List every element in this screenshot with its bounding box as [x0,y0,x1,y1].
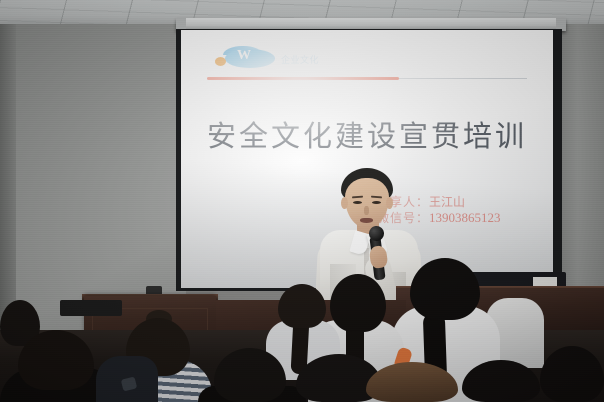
audience-member-e-head [330,274,386,332]
divider-rest-segment [399,78,527,79]
logo-letter: W [237,48,250,64]
audience-member-f-head [410,258,480,320]
audience-member-d-head [278,284,326,328]
presenter-eye-left [353,201,362,204]
slide-divider [207,77,527,81]
presenter-ear-right [386,197,393,209]
presenter-nose [364,206,369,215]
presenter-ear-left [341,197,348,209]
logo-oval-icon [225,49,275,68]
slide-title: 安全文化建设宣贯培训 [181,122,553,151]
photo-scene: W 企业文化 安全文化建设宣贯培训 分享人：王江山 微信号：1390386512… [0,0,604,402]
meta-value-wechat: 13903865123 [429,210,501,225]
presenter-eye-right [372,201,381,204]
logo-dot-icon [215,57,226,66]
slide-logo: W 企业文化 [207,46,337,72]
meta-value-presenter: 王江山 [429,195,465,209]
presenter-mouth [360,218,373,223]
wall-left-edge [0,24,16,334]
desk-monitor [60,300,122,316]
divider-accent-segment [207,77,399,80]
logo-wordmark: 企业文化 [281,53,319,66]
